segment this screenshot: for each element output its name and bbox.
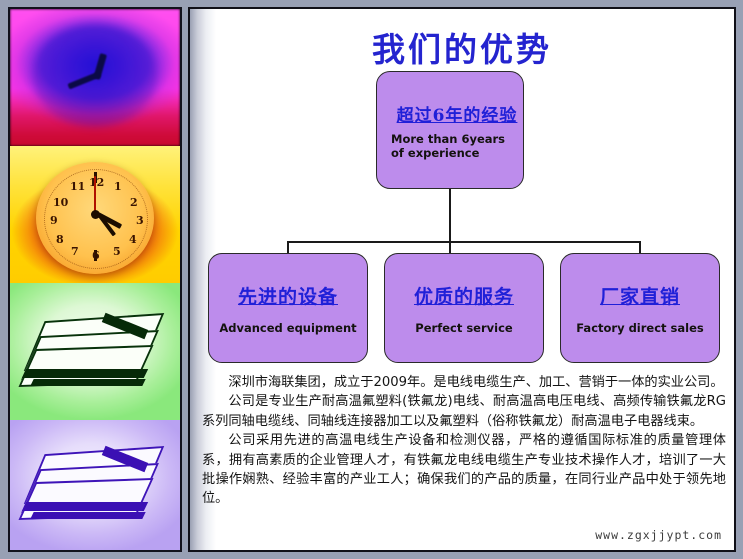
photo-stacked-papers-green xyxy=(10,283,180,420)
chart-node-experience-cn: 超过6年的经验 xyxy=(397,101,518,126)
site-watermark: www.zgxjjypt.com xyxy=(595,528,722,542)
clock-numeral-10: 10 xyxy=(53,196,68,209)
chart-node-experience-en-line1: More than 6years xyxy=(391,132,505,146)
clock-numeral-7: 7 xyxy=(71,245,79,258)
company-description-paragraph-1: 深圳市海联集团，成立于2009年。是电线电缆生产、加工、营销于一体的实业公司。 xyxy=(202,373,726,392)
connector-drop-center xyxy=(449,241,451,253)
chart-node-factory-direct-sales[interactable]: 厂家直销 Factory direct sales xyxy=(560,253,720,363)
paper-shadow xyxy=(30,379,145,386)
advantages-org-chart: 超过6年的经验 More than 6years of experience 先… xyxy=(190,61,736,361)
chart-node-advanced-equipment[interactable]: 先进的设备 Advanced equipment xyxy=(208,253,368,363)
clock-numeral-5: 5 xyxy=(113,245,121,258)
paper-shadow xyxy=(30,512,145,519)
clock-numeral-1: 1 xyxy=(114,180,122,193)
clock-numeral-8: 8 xyxy=(56,233,64,246)
photo-strip: 12 1 2 3 4 5 6 7 8 9 10 11 xyxy=(8,7,182,552)
paper-shadow xyxy=(22,502,148,511)
clock-numeral-2: 2 xyxy=(130,196,138,209)
paper-shadow xyxy=(22,369,148,378)
content-panel: 我们的优势 超过6年的经验 More than 6years of experi… xyxy=(188,7,736,552)
photo-stacked-papers-purple xyxy=(10,420,180,552)
chart-node-perfect-service-en: Perfect service xyxy=(415,321,512,335)
connector-horizontal xyxy=(287,241,641,243)
company-description-paragraph-3: 公司采用先进的高温电线生产设备和检测仪器，严格的遵循国际标准的质量管理体系，拥有… xyxy=(202,431,726,509)
clock-numeral-4: 4 xyxy=(129,233,137,246)
clock-numeral-11: 11 xyxy=(70,180,85,193)
chart-node-advanced-equipment-en: Advanced equipment xyxy=(219,321,356,335)
clock-numeral-3: 3 xyxy=(136,214,144,227)
company-description-paragraph-2: 公司是专业生产耐高温氟塑料(铁氟龙)电线、耐高温高电压电线、高频传输铁氟龙RG系… xyxy=(202,392,726,431)
chart-node-perfect-service[interactable]: 优质的服务 Perfect service xyxy=(384,253,544,363)
photo-2-center-pin xyxy=(91,210,100,219)
chart-node-advanced-equipment-cn: 先进的设备 xyxy=(238,282,338,309)
clock-numeral-6: 6 xyxy=(92,249,100,262)
clock-numeral-9: 9 xyxy=(50,214,58,227)
chart-node-experience[interactable]: 超过6年的经验 More than 6years of experience xyxy=(376,71,524,189)
slide-root: 12 1 2 3 4 5 6 7 8 9 10 11 xyxy=(0,0,743,559)
clock-numeral-12: 12 xyxy=(89,176,104,189)
company-description: 深圳市海联集团，成立于2009年。是电线电缆生产、加工、营销于一体的实业公司。 … xyxy=(202,373,726,509)
chart-node-factory-direct-sales-cn: 厂家直销 xyxy=(600,282,680,309)
connector-vertical-top xyxy=(449,189,451,243)
chart-node-perfect-service-cn: 优质的服务 xyxy=(414,282,514,309)
photo-orange-clock: 12 1 2 3 4 5 6 7 8 9 10 11 xyxy=(10,146,180,283)
connector-drop-left xyxy=(287,241,289,253)
connector-drop-right xyxy=(639,241,641,253)
chart-node-factory-direct-sales-en: Factory direct sales xyxy=(576,321,703,335)
chart-node-experience-en-line2: of experience xyxy=(391,146,479,160)
photo-blurred-blue-clock xyxy=(10,9,180,146)
